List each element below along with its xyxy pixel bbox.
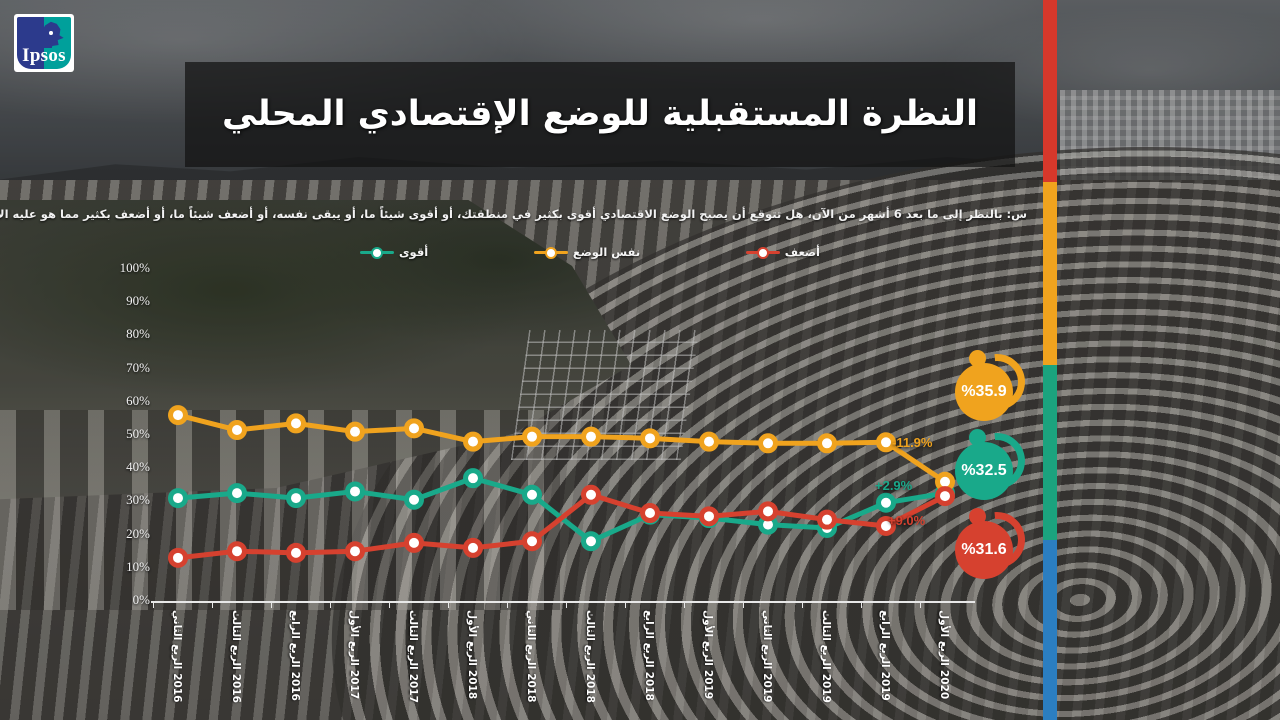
data-point-weaker[interactable] [702, 509, 717, 524]
data-point-same[interactable] [643, 431, 658, 446]
data-point-weaker[interactable] [466, 540, 481, 555]
legend-marker-same [534, 246, 568, 258]
color-bar-segment-blue [1043, 540, 1057, 720]
data-point-same[interactable] [584, 429, 599, 444]
x-axis-tick [271, 601, 272, 608]
data-point-stronger[interactable] [407, 492, 422, 507]
legend-label-stronger: أقوى [399, 245, 428, 259]
x-label-year: 2017 [348, 670, 360, 699]
x-axis-tick [566, 601, 567, 608]
x-axis-tick [802, 601, 803, 608]
change-label-0: -11.9% [892, 435, 932, 450]
x-label-year: 2019 [761, 673, 773, 702]
x-label-year: 2018 [525, 673, 537, 702]
data-point-stronger[interactable] [879, 495, 894, 510]
x-label-quarter: الربع الثاني [171, 610, 183, 669]
data-point-same[interactable] [289, 416, 304, 431]
x-axis-tick [507, 601, 508, 608]
x-axis-line [151, 601, 975, 603]
data-point-weaker[interactable] [230, 544, 245, 559]
logo-wordmark: Ipsos [17, 45, 71, 67]
data-point-weaker[interactable] [938, 489, 953, 504]
legend-item-weaker[interactable]: أضعف [746, 245, 820, 259]
x-axis-label: الربع الثالث2016 [228, 610, 244, 700]
survey-question-text: س: بالنظر إلى ما بعد 6 أشهر من الآن، هل … [0, 203, 1035, 229]
x-label-year: 2017 [407, 674, 419, 703]
x-axis-label: الربع الرابع2018 [641, 610, 657, 700]
x-label-quarter: الربع الثالث [820, 610, 832, 670]
x-label-year: 2019 [702, 670, 714, 699]
logo-eye-icon [49, 31, 53, 35]
data-point-same[interactable] [702, 434, 717, 449]
x-label-year: 2019 [879, 672, 891, 701]
x-label-quarter: الربع الأول [702, 610, 714, 666]
data-point-stronger[interactable] [348, 484, 363, 499]
x-label-quarter: الربع الرابع [643, 610, 655, 668]
data-point-weaker[interactable] [584, 487, 599, 502]
legend-label-weaker: أضعف [785, 245, 820, 259]
legend-label-same: نفس الوضع [573, 245, 640, 259]
x-axis-tick [625, 601, 626, 608]
data-point-weaker[interactable] [820, 512, 835, 527]
x-axis-label: الربع الرابع2016 [287, 610, 303, 700]
x-axis-label: الربع الرابع2019 [877, 610, 893, 700]
data-point-same[interactable] [820, 436, 835, 451]
x-label-quarter: الربع الثاني [761, 610, 773, 669]
color-bar-segment-orange [1043, 182, 1057, 365]
color-bar-segment-teal [1043, 365, 1057, 540]
x-label-year: 2016 [230, 674, 242, 703]
x-axis-tick [920, 601, 921, 608]
x-axis-tick [861, 601, 862, 608]
logo-inner: Ipsos [17, 17, 71, 69]
value-badge-0: %35.9 [955, 350, 1033, 428]
data-point-same[interactable] [230, 423, 245, 438]
color-bar-segment-red [1043, 0, 1057, 182]
x-axis-tick [743, 601, 744, 608]
x-axis-label: الربع الثاني2018 [523, 610, 539, 700]
x-axis-label: الربع الأول2018 [464, 610, 480, 700]
data-point-stronger[interactable] [171, 491, 186, 506]
badge-value: %32.5 [955, 442, 1013, 500]
x-label-quarter: الربع الأول [938, 610, 950, 666]
data-point-same[interactable] [525, 429, 540, 444]
change-label-1: +2.9% [875, 478, 912, 493]
value-badge-2: %31.6 [955, 508, 1033, 586]
data-point-stronger[interactable] [289, 491, 304, 506]
x-axis-label: الربع الثالث2019 [818, 610, 834, 700]
change-label-2: +9.0% [888, 513, 925, 528]
x-label-quarter: الربع الأول [466, 610, 478, 666]
data-point-stronger[interactable] [525, 487, 540, 502]
data-point-weaker[interactable] [761, 504, 776, 519]
data-point-weaker[interactable] [171, 550, 186, 565]
badge-value: %35.9 [955, 363, 1013, 421]
data-point-stronger[interactable] [466, 471, 481, 486]
data-point-same[interactable] [348, 424, 363, 439]
x-axis-label: الربع الأول2019 [700, 610, 716, 700]
data-point-weaker[interactable] [643, 506, 658, 521]
ipsos-logo: Ipsos [14, 14, 74, 72]
x-axis-tick [330, 601, 331, 608]
x-axis-label: الربع الثالث2017 [405, 610, 421, 700]
x-label-quarter: الربع الثالث [584, 610, 596, 670]
data-point-same[interactable] [761, 436, 776, 451]
x-axis-label: الربع الثالث2018 [582, 610, 598, 700]
data-point-weaker[interactable] [289, 545, 304, 560]
x-label-year: 2016 [171, 673, 183, 702]
x-axis-label: الربع الثاني2019 [759, 610, 775, 700]
data-point-same[interactable] [171, 408, 186, 423]
brand-color-bar [1043, 0, 1057, 720]
x-label-quarter: الربع الرابع [879, 610, 891, 668]
x-axis-label: الربع الأول2017 [346, 610, 362, 700]
x-label-quarter: الربع الأول [348, 610, 360, 666]
data-point-weaker[interactable] [525, 534, 540, 549]
x-axis-label: الربع الثاني2016 [169, 610, 185, 700]
x-label-year: 2018 [643, 672, 655, 701]
x-label-year: 2018 [584, 674, 596, 703]
data-point-same[interactable] [407, 421, 422, 436]
x-label-quarter: الربع الثالث [230, 610, 242, 670]
badge-value: %31.6 [955, 521, 1013, 579]
final-value-badges: %35.9%32.5%31.6 [955, 350, 1035, 600]
x-label-year: 2020 [938, 670, 950, 699]
x-axis-tick [389, 601, 390, 608]
data-point-stronger[interactable] [584, 534, 599, 549]
x-axis-label: الربع الأول2020 [936, 610, 952, 700]
chart-legend: أقوىنفس الوضعأضعف [360, 241, 820, 263]
x-label-quarter: الربع الثالث [407, 610, 419, 670]
page-title: النظرة المستقبلية للوضع الإقتصادي المحلي [192, 93, 1008, 137]
data-point-stronger[interactable] [230, 486, 245, 501]
x-label-year: 2016 [289, 672, 301, 701]
x-label-quarter: الربع الثاني [525, 610, 537, 669]
value-badge-1: %32.5 [955, 429, 1033, 507]
x-axis-tick [153, 601, 154, 608]
x-axis-tick [212, 601, 213, 608]
data-point-weaker[interactable] [407, 535, 422, 550]
x-label-quarter: الربع الرابع [289, 610, 301, 668]
x-label-year: 2018 [466, 670, 478, 699]
data-point-same[interactable] [466, 434, 481, 449]
data-point-weaker[interactable] [348, 544, 363, 559]
legend-item-same[interactable]: نفس الوضع [534, 245, 640, 259]
x-axis-tick [448, 601, 449, 608]
legend-marker-stronger [360, 246, 394, 258]
title-band: النظرة المستقبلية للوضع الإقتصادي المحلي [185, 62, 1015, 167]
x-label-year: 2019 [820, 674, 832, 703]
legend-item-stronger[interactable]: أقوى [360, 245, 428, 259]
x-axis-tick [684, 601, 685, 608]
legend-marker-weaker [746, 246, 780, 258]
